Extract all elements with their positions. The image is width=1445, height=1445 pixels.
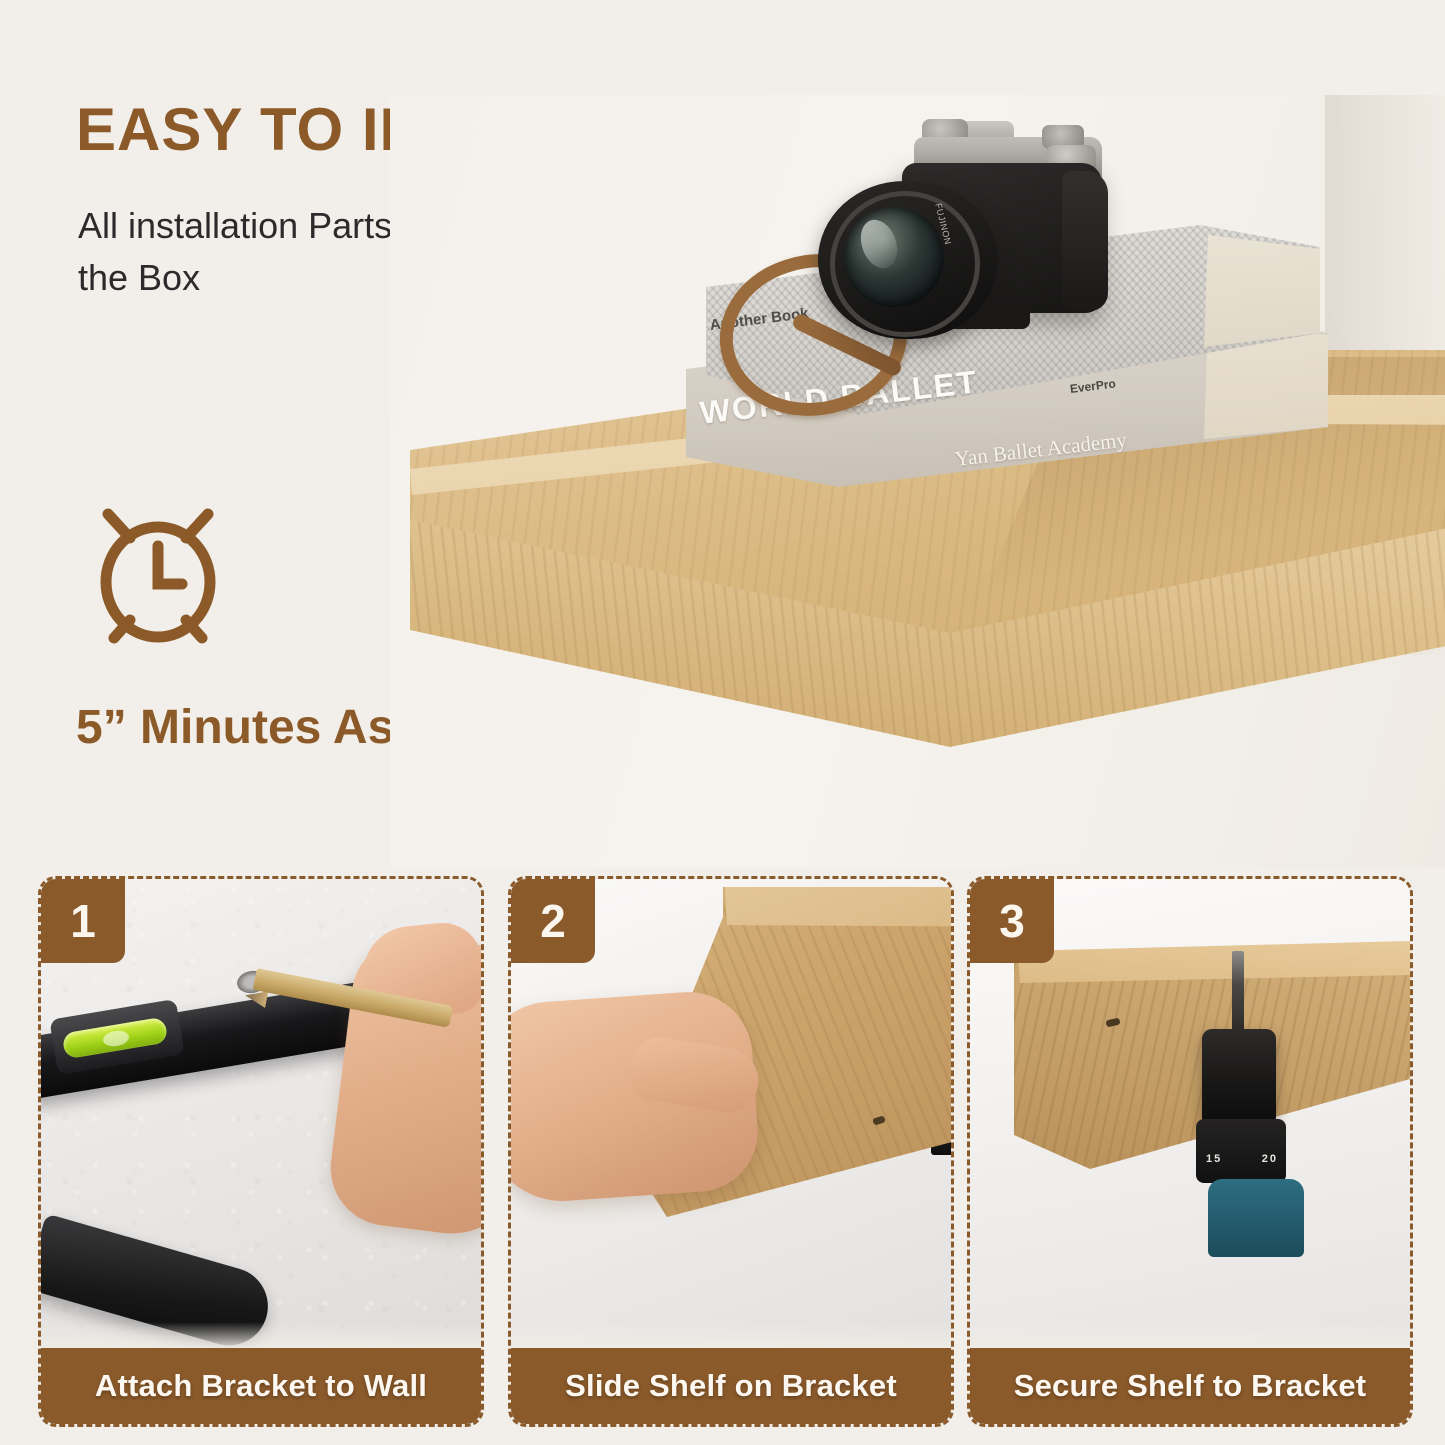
camera: FUJINON — [810, 115, 1150, 375]
hero-section: EASY TO INSTALL All installation Parts a… — [0, 0, 1445, 868]
step-caption: Secure Shelf to Bracket — [970, 1348, 1410, 1424]
panel-edge-fade — [41, 1322, 481, 1348]
step-number-badge: 2 — [511, 879, 595, 963]
step-caption: Slide Shelf on Bracket — [511, 1348, 951, 1424]
step-panel-1: 1 Attach Bracket to Wall — [38, 876, 484, 1427]
step-number-badge: 3 — [970, 879, 1054, 963]
step-panel-2: 2 Slide Shelf on Bracket — [508, 876, 954, 1427]
drill-torque-marks: 15 20 — [1206, 1151, 1278, 1167]
torque-mark-20: 20 — [1262, 1153, 1278, 1165]
alarm-clock-icon — [78, 498, 238, 648]
drill-bit-icon — [1232, 951, 1244, 1035]
panel-edge-fade — [511, 1322, 951, 1348]
step-panel-3: 15 20 3 Secure Shelf to Bracket — [967, 876, 1413, 1427]
panel-edge-fade — [970, 1322, 1410, 1348]
camera-grip — [1062, 171, 1108, 311]
torque-mark-15: 15 — [1206, 1153, 1222, 1165]
step-number-badge: 1 — [41, 879, 125, 963]
install-steps: 1 Attach Bracket to Wall 2 Slide Shelf o… — [0, 876, 1445, 1445]
drill-chuck — [1202, 1029, 1276, 1125]
product-hero-photo: Another Book EverPro WORLD BALLET Yan Ba… — [390, 95, 1445, 868]
step-caption: Attach Bracket to Wall — [41, 1348, 481, 1424]
drill-body — [1208, 1179, 1304, 1257]
